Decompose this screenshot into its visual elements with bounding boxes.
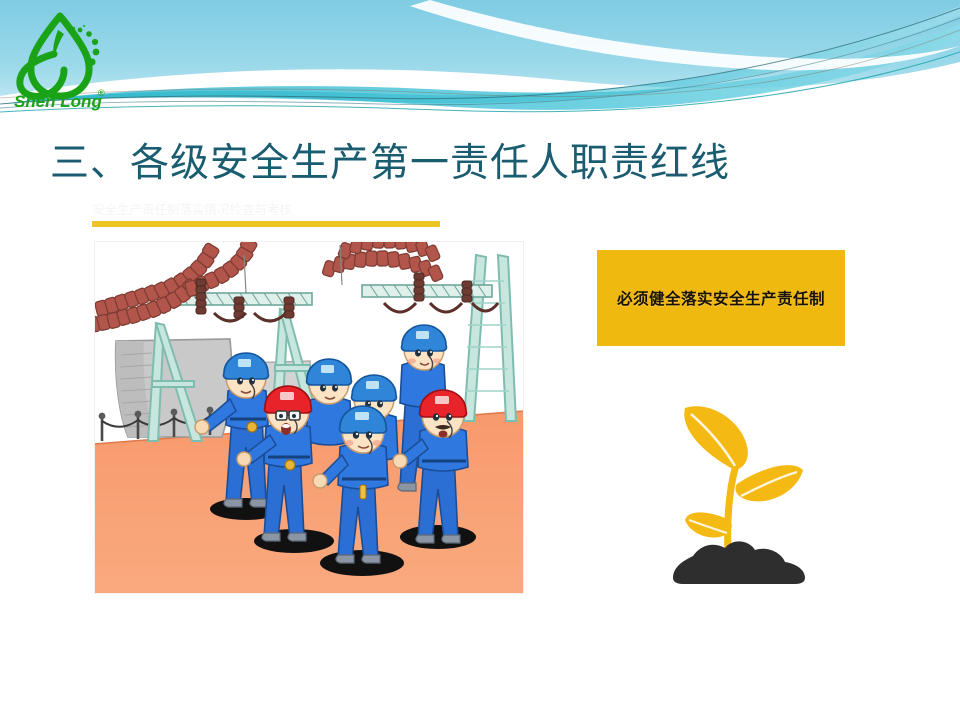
content-area: 安全生产责任制落实情况检查与考核	[72, 196, 888, 616]
logo-wordmark: Shen Long	[14, 92, 102, 111]
safety-slogan-banner: 必须健全落实安全生产责任制	[597, 250, 845, 346]
brand-logo: Shen Long ®	[10, 8, 114, 112]
registered-mark-icon: ®	[98, 88, 105, 98]
ghost-heading-text: 安全生产责任制落实情况检查与考核	[92, 202, 512, 218]
safety-slogan-text: 必须健全落实安全生产责任制	[617, 287, 825, 309]
header-wave-banner	[0, 0, 960, 128]
power-plant-workers-illustration	[94, 241, 524, 594]
presentation-slide: Shen Long ® 三、各级安全生产第一责任人职责红线 安全生产责任制落实情…	[0, 0, 960, 720]
page-title: 三、各级安全生产第一责任人职责红线	[50, 139, 910, 189]
yellow-divider-rule	[92, 221, 440, 227]
growing-sprout-graphic	[657, 384, 837, 589]
